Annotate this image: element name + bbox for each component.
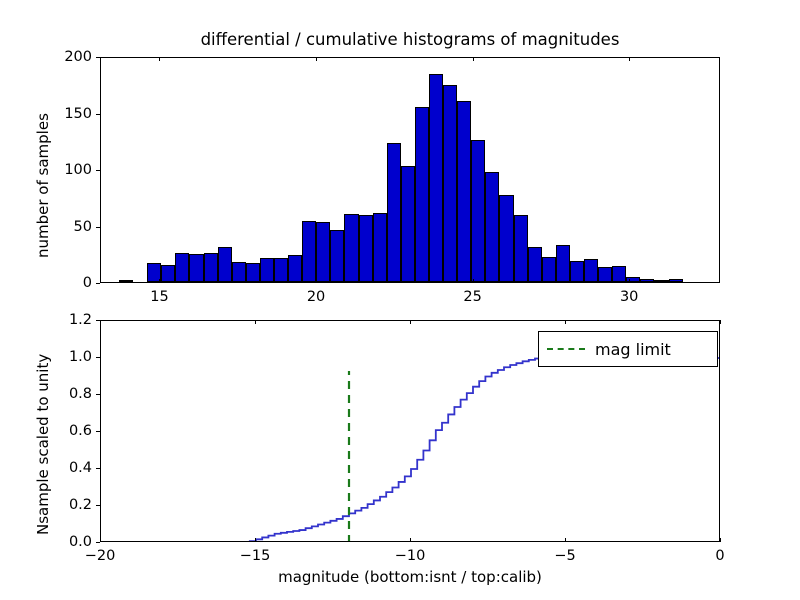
cumulative-ytick <box>96 505 100 506</box>
histogram-bar <box>584 259 598 282</box>
histogram-axes <box>100 57 720 283</box>
histogram-ylabel: number of samples <box>34 113 52 258</box>
histogram-bar <box>654 280 668 282</box>
histogram-bar <box>246 263 260 282</box>
histogram-xtick-top <box>473 57 474 61</box>
figure-xlabel: magnitude (bottom:isnt / top:calib) <box>100 568 720 586</box>
histogram-ytick-label: 200 <box>44 49 92 65</box>
histogram-bar <box>401 166 415 282</box>
cumulative-xtick-label: −20 <box>85 548 116 564</box>
legend-box[interactable]: mag limit <box>538 331 718 367</box>
histogram-bar <box>612 266 626 282</box>
cumulative-ytick <box>96 542 100 543</box>
histogram-bar <box>429 74 443 282</box>
cumulative-ytick-label: 0.6 <box>44 423 92 439</box>
histogram-bar <box>457 101 471 282</box>
histogram-bar <box>175 253 189 282</box>
histogram-ytick-label: 100 <box>44 162 92 178</box>
histogram-bar <box>260 258 274 282</box>
histogram-bar <box>485 172 499 282</box>
histogram-xtick-label: 15 <box>150 289 168 305</box>
histogram-ytick <box>96 283 100 284</box>
histogram-bar <box>387 143 401 282</box>
histogram-bar <box>302 221 316 282</box>
histogram-bar <box>119 280 133 282</box>
cumulative-ytick-label: 0.2 <box>44 497 92 513</box>
histogram-bar <box>499 195 513 282</box>
histogram-bar <box>598 267 612 282</box>
histogram-plot-surface <box>101 58 719 282</box>
histogram-xtick-label: 25 <box>463 289 481 305</box>
histogram-xtick-top <box>629 57 630 61</box>
histogram-bar <box>514 215 528 282</box>
cumulative-ytick-label: 0.4 <box>44 460 92 476</box>
histogram-bar <box>640 279 654 282</box>
histogram-bar <box>161 265 175 282</box>
cumulative-xtick <box>255 538 256 542</box>
figure-title: differential / cumulative histograms of … <box>100 30 720 49</box>
histogram-bar <box>204 253 218 282</box>
histogram-ytick <box>96 170 100 171</box>
legend-label-mag-limit: mag limit <box>595 340 671 359</box>
cumulative-xtick <box>565 538 566 542</box>
cumulative-step-line <box>101 358 719 541</box>
histogram-xtick-top <box>316 57 317 61</box>
histogram-xtick <box>629 279 630 283</box>
histogram-bar <box>528 247 542 282</box>
cumulative-xtick-label: 0 <box>715 548 724 564</box>
cumulative-xtick <box>720 538 721 542</box>
histogram-bar <box>359 215 373 282</box>
histogram-bar <box>274 258 288 282</box>
cumulative-ytick <box>96 357 100 358</box>
histogram-bar <box>570 261 584 282</box>
cumulative-ytick-label: 1.2 <box>44 312 92 328</box>
cumulative-ytick <box>96 394 100 395</box>
histogram-bar <box>344 214 358 282</box>
cumulative-xtick-top <box>720 320 721 324</box>
histogram-bar <box>218 247 232 282</box>
cumulative-xtick-top <box>100 320 101 324</box>
histogram-ytick-label: 50 <box>44 219 92 235</box>
histogram-ytick-label: 0 <box>44 275 92 291</box>
histogram-xtick-label: 20 <box>307 289 325 305</box>
histogram-bar <box>471 140 485 282</box>
histogram-bar <box>415 107 429 282</box>
cumulative-xtick-label: −15 <box>240 548 271 564</box>
histogram-xtick-label: 30 <box>620 289 638 305</box>
histogram-xtick <box>159 279 160 283</box>
histogram-xtick <box>316 279 317 283</box>
cumulative-xtick-top <box>255 320 256 324</box>
histogram-bar <box>330 230 344 282</box>
histogram-bar <box>288 255 302 282</box>
histogram-bar <box>669 279 683 282</box>
histogram-ytick <box>96 57 100 58</box>
histogram-bar <box>556 245 570 282</box>
cumulative-xtick <box>410 538 411 542</box>
cumulative-ytick <box>96 468 100 469</box>
cumulative-xtick-label: −10 <box>395 548 426 564</box>
histogram-bar <box>189 254 203 282</box>
histogram-xtick-top <box>159 57 160 61</box>
histogram-ytick <box>96 114 100 115</box>
cumulative-ytick <box>96 431 100 432</box>
histogram-bar <box>316 222 330 282</box>
cumulative-xtick <box>100 538 101 542</box>
histogram-bar <box>373 213 387 282</box>
histogram-ytick <box>96 227 100 228</box>
cumulative-xtick-top <box>565 320 566 324</box>
histogram-bar <box>542 257 556 282</box>
histogram-bar <box>443 85 457 282</box>
histogram-xtick <box>473 279 474 283</box>
mag-limit-line-icon <box>547 348 585 350</box>
matplotlib-figure: differential / cumulative histograms of … <box>0 0 800 600</box>
histogram-ytick-label: 150 <box>44 106 92 122</box>
cumulative-ytick-label: 0.8 <box>44 386 92 402</box>
cumulative-xtick-label: −5 <box>554 548 575 564</box>
histogram-bar <box>232 262 246 282</box>
cumulative-xtick-top <box>410 320 411 324</box>
cumulative-ytick-label: 1.0 <box>44 349 92 365</box>
